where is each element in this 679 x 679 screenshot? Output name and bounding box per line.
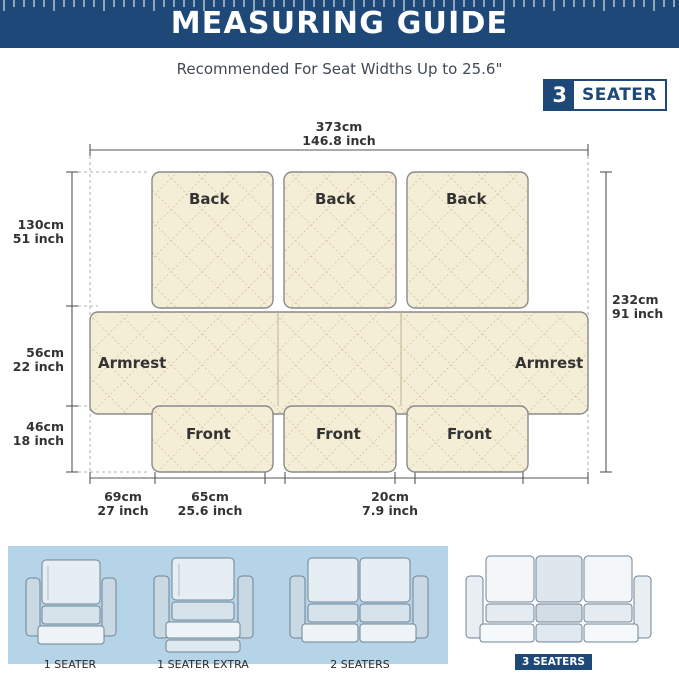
dim-armrest-height-cm: 56cm — [0, 346, 64, 360]
cover-shape-svg — [0, 100, 679, 530]
dim-bottom-c-inch: 7.9 inch — [345, 504, 435, 518]
dim-front-height-inch: 18 inch — [0, 434, 64, 448]
dim-top-width-inch: 146.8 inch — [289, 134, 389, 148]
dim-right-height-cm: 232cm — [612, 293, 659, 307]
dim-bottom-b-cm: 65cm — [165, 490, 255, 504]
dim-bottom-c-cm: 20cm — [345, 490, 435, 504]
dim-right-height-inch: 91 inch — [612, 307, 663, 321]
right-dimension-line — [600, 172, 612, 472]
dim-bottom-b-inch: 25.6 inch — [165, 504, 255, 518]
bottom-dimension-lines — [90, 472, 588, 484]
dim-top-width-cm: 373cm — [289, 120, 389, 134]
product-variants-footer: 1 SEATER 1 SEATER EXTRA 2 SEATERS 3 SEAT… — [0, 540, 679, 679]
label-back-right: Back — [446, 190, 486, 208]
footer-label-3-seaters: 3 SEATERS — [515, 654, 592, 670]
dim-armrest-height-inch: 22 inch — [0, 360, 64, 374]
label-armrest-right: Armrest — [515, 354, 583, 372]
variant-1-seater-icon — [26, 560, 116, 644]
dim-back-height-inch: 51 inch — [0, 232, 64, 246]
label-armrest-left: Armrest — [98, 354, 166, 372]
subtitle-text: Recommended For Seat Widths Up to 25.6" — [0, 60, 679, 78]
dim-bottom-a-inch: 27 inch — [82, 504, 164, 518]
footer-label-2-seaters: 2 SEATERS — [296, 658, 424, 671]
variant-1-seater-extra-icon — [154, 558, 253, 652]
footer-label-1-seater: 1 SEATER — [20, 658, 120, 671]
dim-bottom-a-cm: 69cm — [82, 490, 164, 504]
page-title: MEASURING GUIDE — [0, 6, 679, 41]
label-back-center: Back — [315, 190, 355, 208]
dim-front-height-cm: 46cm — [0, 420, 64, 434]
measuring-diagram: Back Back Back Armrest Armrest Front Fro… — [0, 100, 679, 530]
dim-back-height-cm: 130cm — [0, 218, 64, 232]
label-front-center: Front — [316, 425, 361, 443]
label-front-left: Front — [186, 425, 231, 443]
variant-2-seaters-icon — [290, 558, 428, 642]
label-front-right: Front — [447, 425, 492, 443]
label-back-left: Back — [189, 190, 229, 208]
footer-label-1-seater-extra: 1 SEATER EXTRA — [142, 658, 264, 671]
variant-3-seaters-icon — [466, 556, 651, 642]
header-banner: MEASURING GUIDE — [0, 0, 679, 48]
